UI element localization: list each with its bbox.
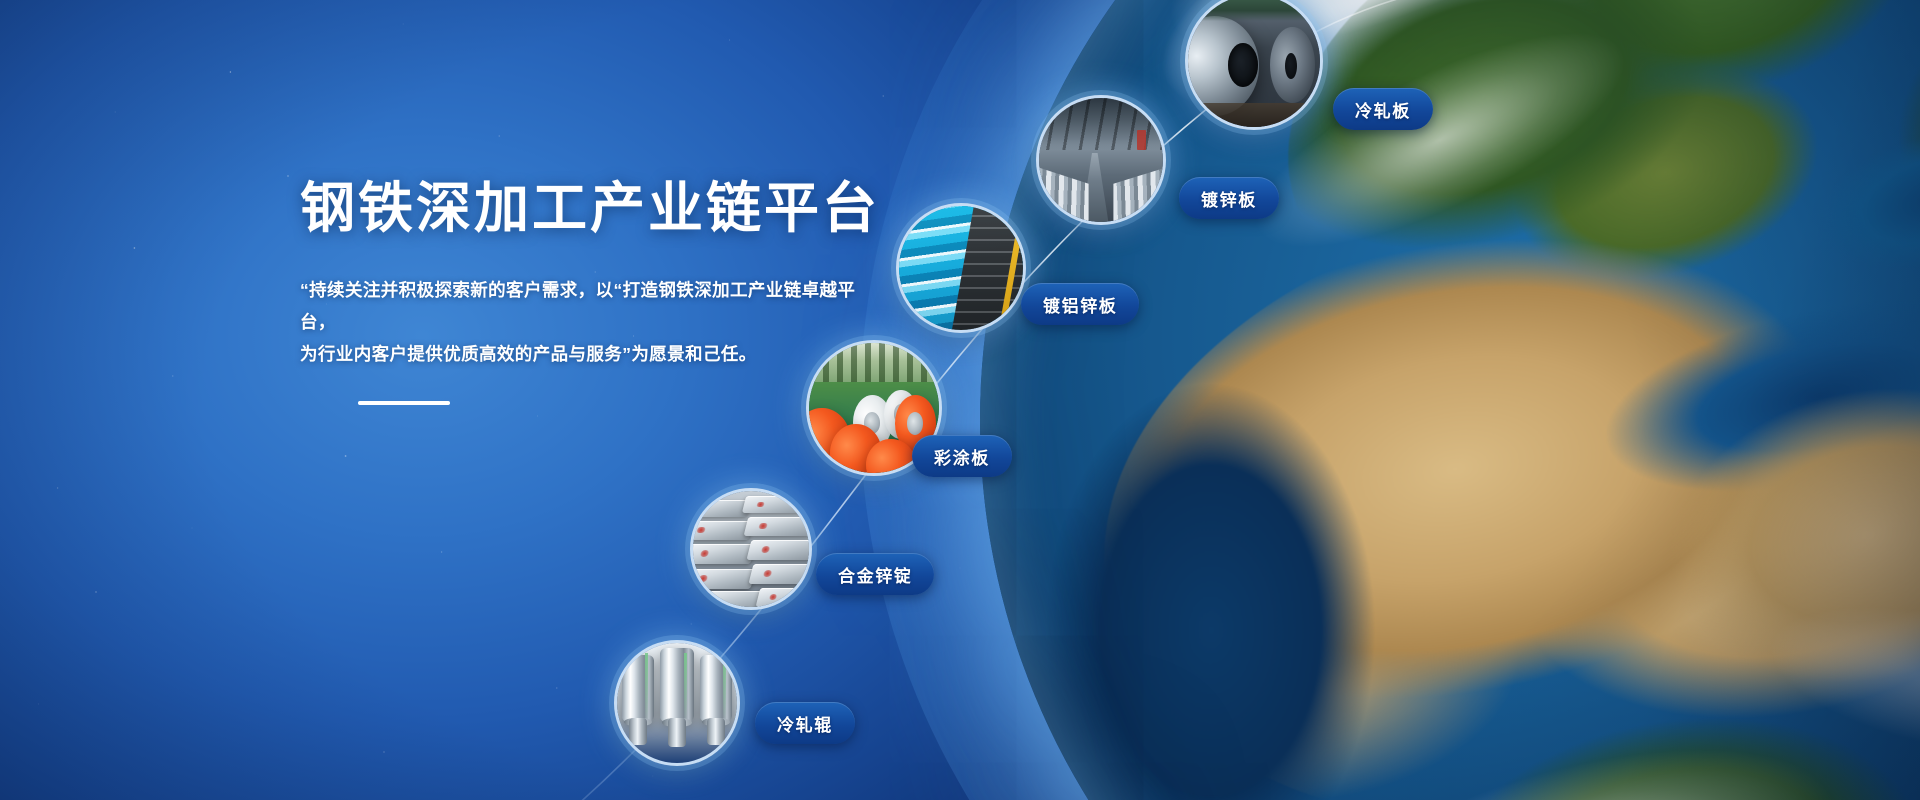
product-label-alu-zinc-plate[interactable]: 镀铝锌板 <box>1021 283 1139 325</box>
hero-subtitle-line-2: 为行业内客户提供优质高效的产品与服务”为愿景和己任。 <box>300 338 880 370</box>
product-thumb-zinc-alloy-ingot[interactable] <box>690 488 812 610</box>
product-label-cold-rolled-plate[interactable]: 冷轧板 <box>1333 88 1433 130</box>
product-label-cold-rolling-roll[interactable]: 冷轧辊 <box>755 702 855 744</box>
title-divider-rule <box>358 401 450 405</box>
product-thumb-cold-rolling-roll[interactable] <box>614 640 740 766</box>
product-label-color-coated-plate[interactable]: 彩涂板 <box>912 435 1012 477</box>
mill-rolls-image <box>617 643 737 763</box>
product-thumb-cold-rolled-plate[interactable] <box>1185 0 1323 130</box>
hero-banner: 钢铁深加工产业链平台 “持续关注并积极探索新的客户需求，以“打造钢铁深加工产业链… <box>0 0 1920 800</box>
zinc-ingots-image <box>693 491 809 607</box>
hero-subtitle-line-1: “持续关注并积极探索新的客户需求，以“打造钢铁深加工产业链卓越平台， <box>300 280 855 332</box>
product-label-zinc-alloy-ingot[interactable]: 合金锌锭 <box>816 553 934 595</box>
product-label-galvanized-plate[interactable]: 镀锌板 <box>1179 177 1279 219</box>
cyan-coated-sheet-image <box>899 206 1023 330</box>
product-thumb-galvanized-plate[interactable] <box>1036 95 1166 225</box>
hero-subtitle: “持续关注并积极探索新的客户需求，以“打造钢铁深加工产业链卓越平台， 为行业内客… <box>300 274 880 371</box>
steel-coils-row-image <box>1188 0 1320 127</box>
product-thumb-alu-zinc-plate[interactable] <box>896 203 1026 333</box>
page-title: 钢铁深加工产业链平台 <box>300 178 880 240</box>
hero-copy-block: 钢铁深加工产业链平台 “持续关注并积极探索新的客户需求，以“打造钢铁深加工产业链… <box>300 178 880 405</box>
galvanized-coil-warehouse-image <box>1039 98 1163 222</box>
